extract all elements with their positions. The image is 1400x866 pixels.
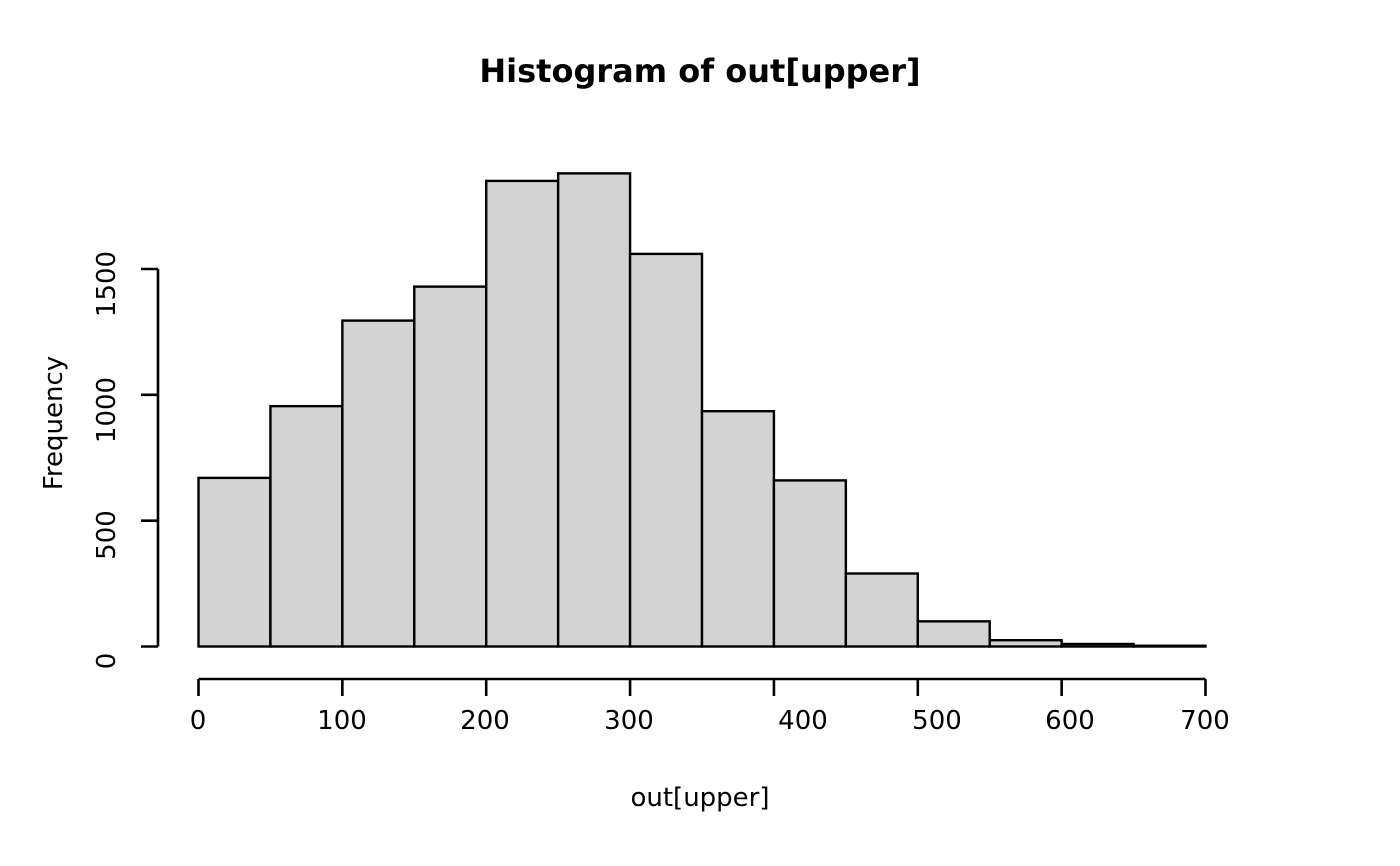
histogram-bar <box>486 181 558 647</box>
histogram-bar <box>918 621 990 646</box>
histogram-bar <box>558 173 630 646</box>
histogram-plot: Histogram of out[upper] Frequency out[up… <box>0 0 1400 866</box>
histogram-bars <box>199 173 1206 646</box>
histogram-bar <box>270 406 342 646</box>
histogram-bar <box>702 411 774 646</box>
y-axis <box>141 269 158 647</box>
histogram-bar <box>199 478 271 647</box>
histogram-bar <box>1134 646 1206 647</box>
histogram-bar <box>1062 644 1134 647</box>
histogram-bar <box>342 321 414 647</box>
histogram-bar <box>630 254 702 647</box>
histogram-bar <box>990 640 1062 646</box>
x-axis <box>199 679 1206 696</box>
histogram-bar <box>846 574 918 647</box>
histogram-bar <box>774 480 846 646</box>
histogram-bar <box>414 287 486 647</box>
plot-area <box>0 0 1400 866</box>
